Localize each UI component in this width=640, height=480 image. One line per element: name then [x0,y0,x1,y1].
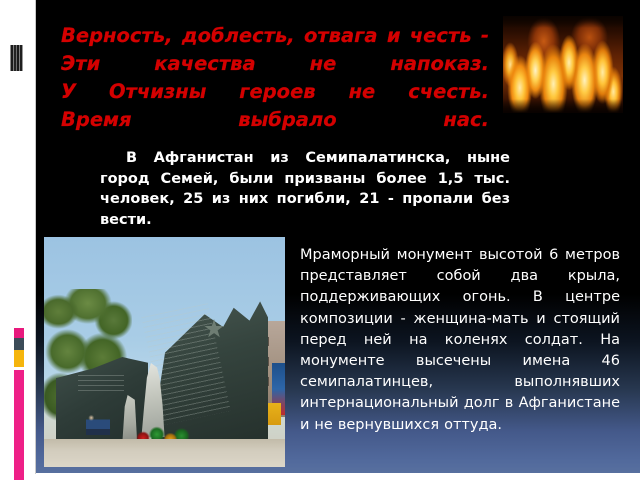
slide-title: Верность, доблесть, отвага и честь - Эти… [61,22,489,134]
title-line-2: Эти качества не напоказ. [61,50,489,78]
engraved-inscription [78,375,124,395]
amber-bar [14,350,24,367]
paved-ground [44,439,285,467]
title-line-4: Время выбрало нас. [61,106,489,134]
margin-divider [35,0,36,474]
magenta-long-bar [14,370,24,480]
fire-photo [503,16,623,113]
flames-bottom-shade [503,99,623,113]
intro-paragraph: В Афганистан из Семипалатинска, ныне гор… [100,148,510,230]
color-bar-stack [14,328,24,480]
presentation-slide: Верность, доблесть, отвага и честь - Эти… [0,0,640,480]
slate-bar [14,338,24,350]
title-line-3: У Отчизны героев не счесть. [61,78,489,106]
flames-top-shade [503,16,623,28]
bottom-page-margin [0,473,640,480]
body-paragraph: Мраморный монумент высотой 6 метров пред… [300,245,620,436]
magenta-bar [14,328,24,338]
slide-canvas: Верность, доблесть, отвага и честь - Эти… [36,0,640,474]
visitors [86,413,110,435]
striped-bar-decoration-icon [10,45,23,71]
title-line-1: Верность, доблесть, отвага и честь - [61,22,489,50]
monument-photo [44,237,285,467]
